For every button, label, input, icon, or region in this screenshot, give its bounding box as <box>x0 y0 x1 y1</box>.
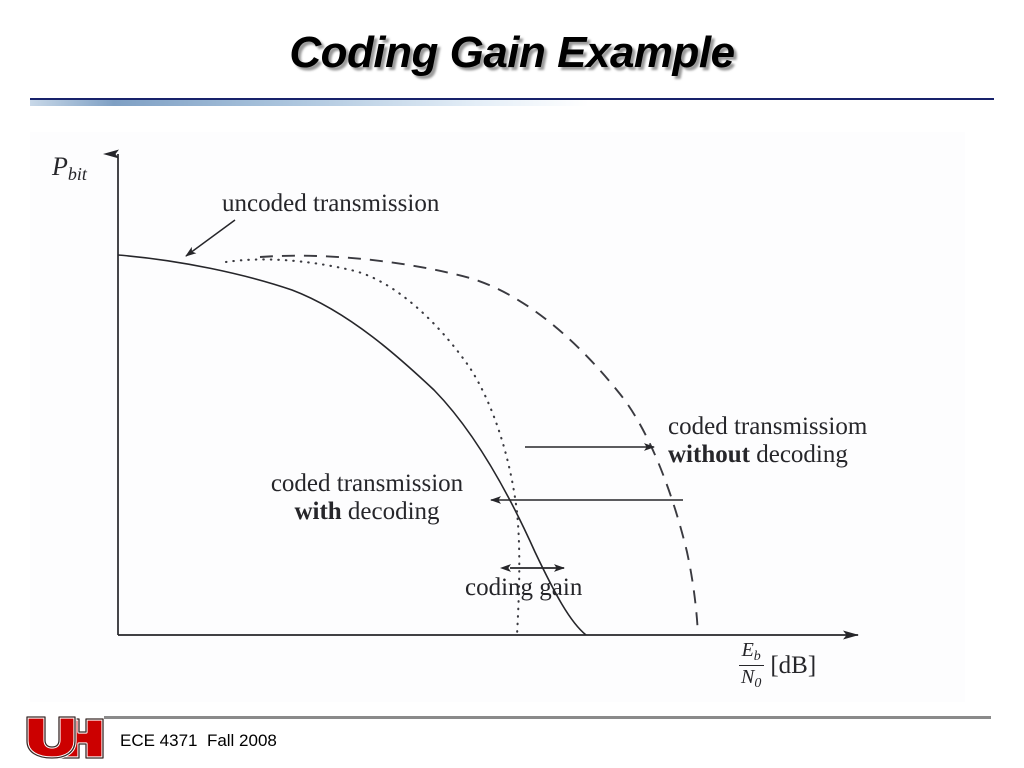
y-axis-label-symbol: P <box>52 152 68 181</box>
footer-course-label: ECE 4371 Fall 2008 <box>120 731 277 751</box>
x-axis-label-fraction: Eb N0 <box>738 640 764 692</box>
title-divider <box>30 98 994 108</box>
y-axis-label-subscript: bit <box>68 164 87 184</box>
annotation-coded-with-line2-rest: decoding <box>342 498 440 525</box>
x-axis-label-denominator: N0 <box>738 666 764 691</box>
annotation-uncoded-transmission: uncoded transmission <box>222 190 439 218</box>
annotation-coded-with-decoding: coded transmission with decoding <box>222 470 512 526</box>
annotation-coded-without-line1: coded transmissiom <box>668 413 867 440</box>
x-axis-label-unit: [dB] <box>770 652 816 680</box>
divider-gradient-wedge <box>30 100 589 106</box>
coding-gain-figure: Pbit uncoded transmission coded transmis… <box>30 132 965 702</box>
x-axis-label: Eb N0 [dB] <box>738 640 816 692</box>
logo-letter-u <box>27 717 75 758</box>
annotation-with-keyword: with <box>294 498 341 525</box>
annotation-coded-without-line2-rest: decoding <box>750 441 848 468</box>
footer-divider <box>104 716 991 719</box>
university-of-houston-logo <box>24 712 104 764</box>
annotation-coded-with-line1: coded transmission <box>271 470 463 497</box>
x-axis-label-numerator: Eb <box>739 640 764 666</box>
y-axis-label: Pbit <box>52 152 87 185</box>
annotation-coded-without-decoding: coded transmissiom without decoding <box>668 413 968 469</box>
annotation-without-keyword: without <box>668 441 750 468</box>
page-title: Coding Gain Example <box>0 28 1024 78</box>
annotation-coding-gain: coding gain <box>465 574 582 602</box>
arrow-uncoded-leader <box>186 220 235 256</box>
